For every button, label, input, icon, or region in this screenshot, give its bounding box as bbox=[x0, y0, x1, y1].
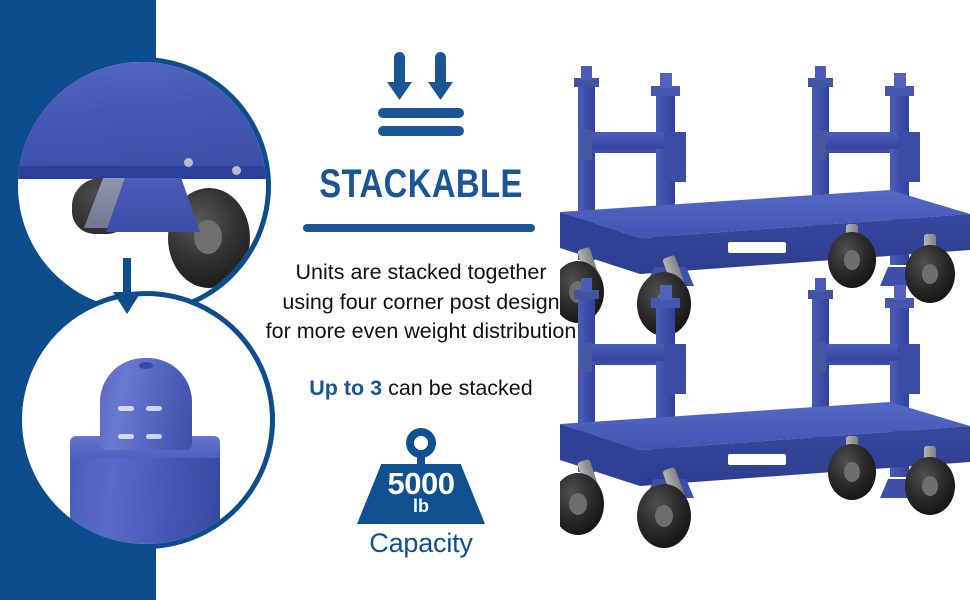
bolt-icon bbox=[184, 158, 193, 167]
weight-icon: 5000 lb bbox=[357, 428, 485, 524]
stack-count-rest: can be stacked bbox=[382, 376, 533, 400]
stack-down-arrows-icon bbox=[373, 52, 469, 143]
capacity-label: Capacity bbox=[262, 528, 580, 559]
circle-photo-inner bbox=[22, 296, 270, 544]
feature-column: STACKABLE Units are stacked together usi… bbox=[262, 0, 580, 600]
description-line-3: for more even weight distribution bbox=[240, 317, 602, 347]
stacked-platform-carts-photo bbox=[560, 42, 970, 572]
dome-vent-hole bbox=[139, 362, 153, 369]
description-line-1: Units are stacked together bbox=[240, 258, 602, 288]
cart-underside-socket-photo bbox=[18, 62, 266, 310]
feature-description: Units are stacked together using four co… bbox=[240, 258, 602, 347]
title-divider bbox=[303, 224, 535, 232]
dome-slot bbox=[118, 406, 134, 411]
infographic-root: STACKABLE Units are stacked together usi… bbox=[0, 0, 970, 600]
dome-slot bbox=[146, 406, 162, 411]
dome-slot bbox=[118, 434, 134, 439]
cart-underside-edge bbox=[18, 166, 266, 179]
caster-hub bbox=[194, 220, 222, 254]
page-title: STACKABLE bbox=[291, 162, 552, 207]
description-line-2: using four corner post design bbox=[240, 288, 602, 318]
corner-post-cap-photo bbox=[22, 296, 270, 544]
down-arrow-icon bbox=[112, 258, 142, 316]
bolt-icon bbox=[232, 166, 241, 175]
capacity-badge: 5000 lb Capacity bbox=[262, 428, 580, 559]
cart-unit-bottom bbox=[560, 278, 970, 548]
corner-post-body bbox=[70, 444, 220, 544]
capacity-unit: lb bbox=[357, 496, 485, 517]
cart-underside-panel bbox=[18, 62, 266, 170]
dome-slot bbox=[146, 434, 162, 439]
stack-count-emphasis: Up to 3 bbox=[309, 376, 382, 400]
cart-unit-top bbox=[560, 66, 970, 336]
stack-count-text: Up to 3 can be stacked bbox=[262, 376, 580, 401]
circle-photo-inner bbox=[18, 62, 266, 310]
